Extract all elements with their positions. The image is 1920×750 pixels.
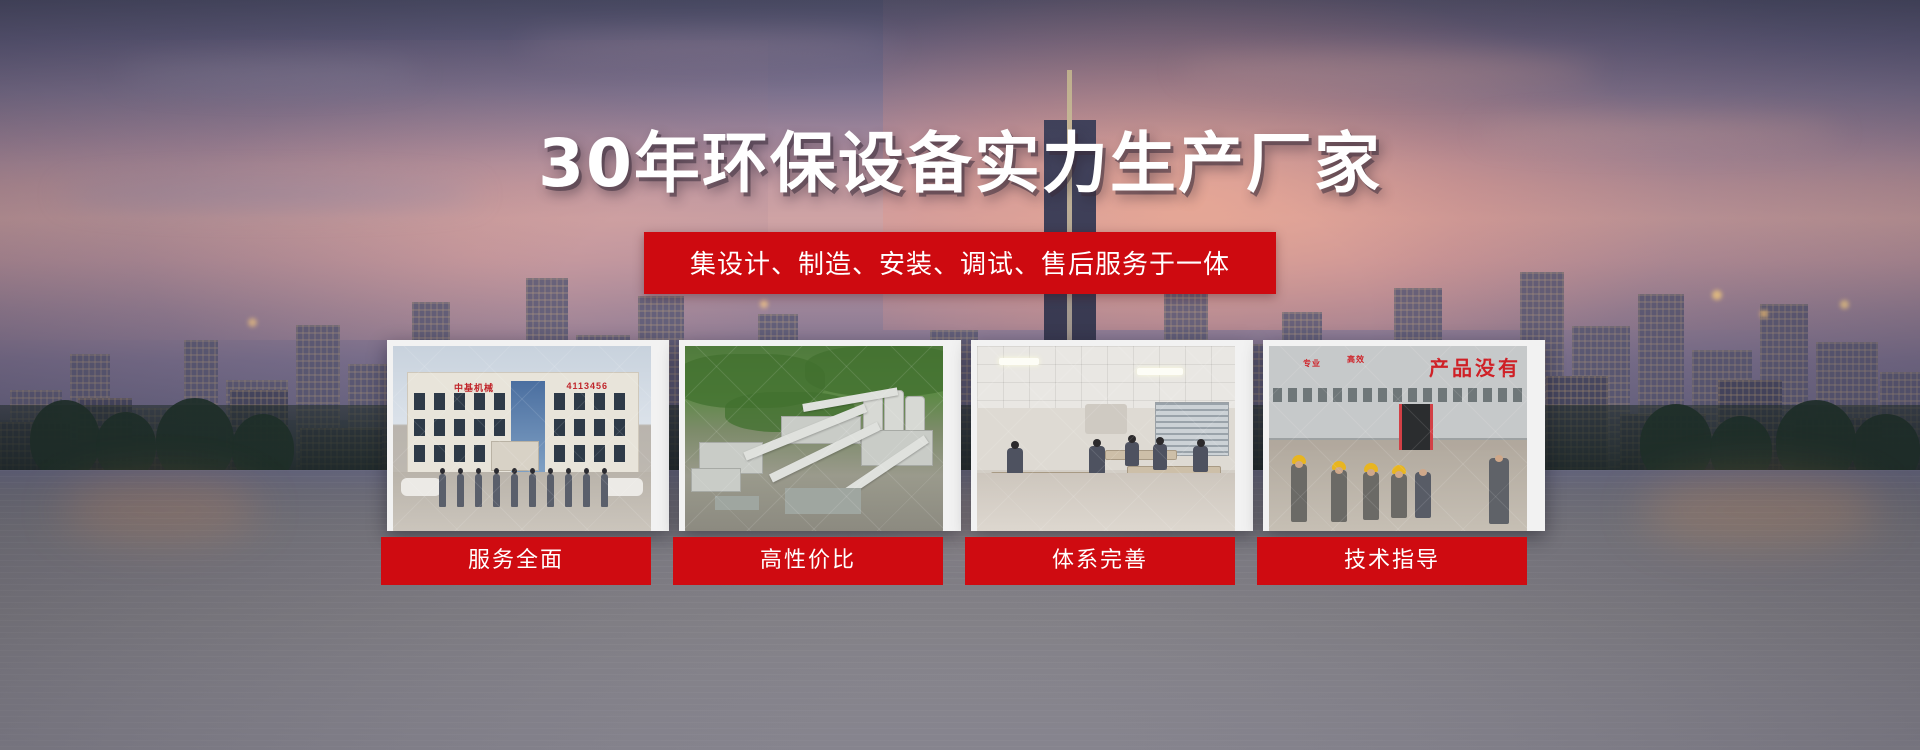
wall-logo xyxy=(1085,404,1127,434)
employee-figure xyxy=(1193,446,1208,472)
factory-sign-small-1: 专业 xyxy=(1303,358,1321,369)
worker-head xyxy=(1335,467,1343,474)
card-frame xyxy=(971,340,1253,531)
card-frame: 中基机械 4113456 xyxy=(387,340,669,531)
factory-door xyxy=(1399,404,1433,450)
employee-figure xyxy=(1125,442,1139,466)
subtitle-badge: 集设计、制造、安装、调试、售后服务于一体 xyxy=(644,232,1276,294)
employee-figure xyxy=(1089,446,1105,474)
worker-figure xyxy=(1291,464,1307,522)
feature-card-service[interactable]: 中基机械 4113456 xyxy=(387,340,657,585)
parked-car xyxy=(401,478,441,496)
staff-figure xyxy=(529,474,536,507)
worker-head xyxy=(1395,471,1403,478)
supervisor-figure xyxy=(1489,458,1509,524)
staff-figure xyxy=(583,474,590,507)
scene-office-building: 中基机械 4113456 xyxy=(393,346,651,531)
card-thumbnail-office-building: 中基机械 4113456 xyxy=(393,346,651,531)
feature-card-technical[interactable]: 产品没有 专业 高效 xyxy=(1263,340,1533,585)
warehouse-roof xyxy=(785,488,861,514)
staff-figure xyxy=(493,474,500,507)
worker-head xyxy=(1295,461,1303,468)
card-caption: 服务全面 xyxy=(381,537,651,585)
feature-card-value[interactable]: 高性价比 xyxy=(679,340,949,585)
worker-figure xyxy=(1391,474,1407,518)
employee-figure xyxy=(1153,444,1167,470)
ceiling-light xyxy=(1137,368,1183,375)
worker-head xyxy=(1367,469,1375,476)
staff-figure xyxy=(457,474,464,507)
card-thumbnail-office-interior xyxy=(977,346,1235,531)
forest-patch xyxy=(805,346,943,396)
worker-head xyxy=(1419,469,1427,476)
banner-content: 30年环保设备实力生产厂家 集设计、制造、安装、调试、售后服务于一体 中基机械 … xyxy=(0,0,1920,750)
scene-aerial-plant xyxy=(685,346,943,531)
scene-office-interior xyxy=(977,346,1235,531)
scene-factory-workers: 产品没有 专业 高效 xyxy=(1269,346,1527,531)
staff-figure xyxy=(547,474,554,507)
staff-figure xyxy=(475,474,482,507)
staff-figure xyxy=(565,474,572,507)
ceiling-light xyxy=(999,358,1039,365)
worker-figure xyxy=(1363,472,1379,520)
feature-card-list: 中基机械 4113456 xyxy=(387,340,1533,585)
ceiling-grid xyxy=(977,346,1235,408)
employee-figure xyxy=(1007,448,1023,474)
factory-sign-large: 产品没有 xyxy=(1429,352,1521,381)
worker-figure xyxy=(1331,470,1347,522)
factory-wall: 产品没有 专业 高效 xyxy=(1269,346,1527,440)
card-thumbnail-aerial-plant xyxy=(685,346,943,531)
parked-car xyxy=(603,478,643,496)
floor xyxy=(977,473,1235,531)
hero-banner: 30年环保设备实力生产厂家 集设计、制造、安装、调试、售后服务于一体 中基机械 … xyxy=(0,0,1920,750)
supervisor-head xyxy=(1495,455,1503,462)
card-thumbnail-factory-workers: 产品没有 专业 高效 xyxy=(1269,346,1527,531)
card-frame xyxy=(679,340,961,531)
card-caption: 体系完善 xyxy=(965,537,1235,585)
card-frame: 产品没有 专业 高效 xyxy=(1263,340,1545,531)
company-phone-text: 4113456 xyxy=(566,381,608,391)
page-title: 30年环保设备实力生产厂家 xyxy=(0,110,1920,206)
factory-window-row xyxy=(1273,388,1523,402)
plant-building xyxy=(691,468,741,492)
warehouse-roof xyxy=(715,496,759,510)
feature-card-system[interactable]: 体系完善 xyxy=(971,340,1241,585)
staff-figure xyxy=(439,474,446,507)
card-caption: 高性价比 xyxy=(673,537,943,585)
factory-sign-small-2: 高效 xyxy=(1347,354,1365,365)
building-entrance xyxy=(491,441,539,471)
staff-figure xyxy=(601,474,608,507)
worker-figure xyxy=(1415,472,1431,518)
card-caption: 技术指导 xyxy=(1257,537,1527,585)
staff-figure xyxy=(511,474,518,507)
